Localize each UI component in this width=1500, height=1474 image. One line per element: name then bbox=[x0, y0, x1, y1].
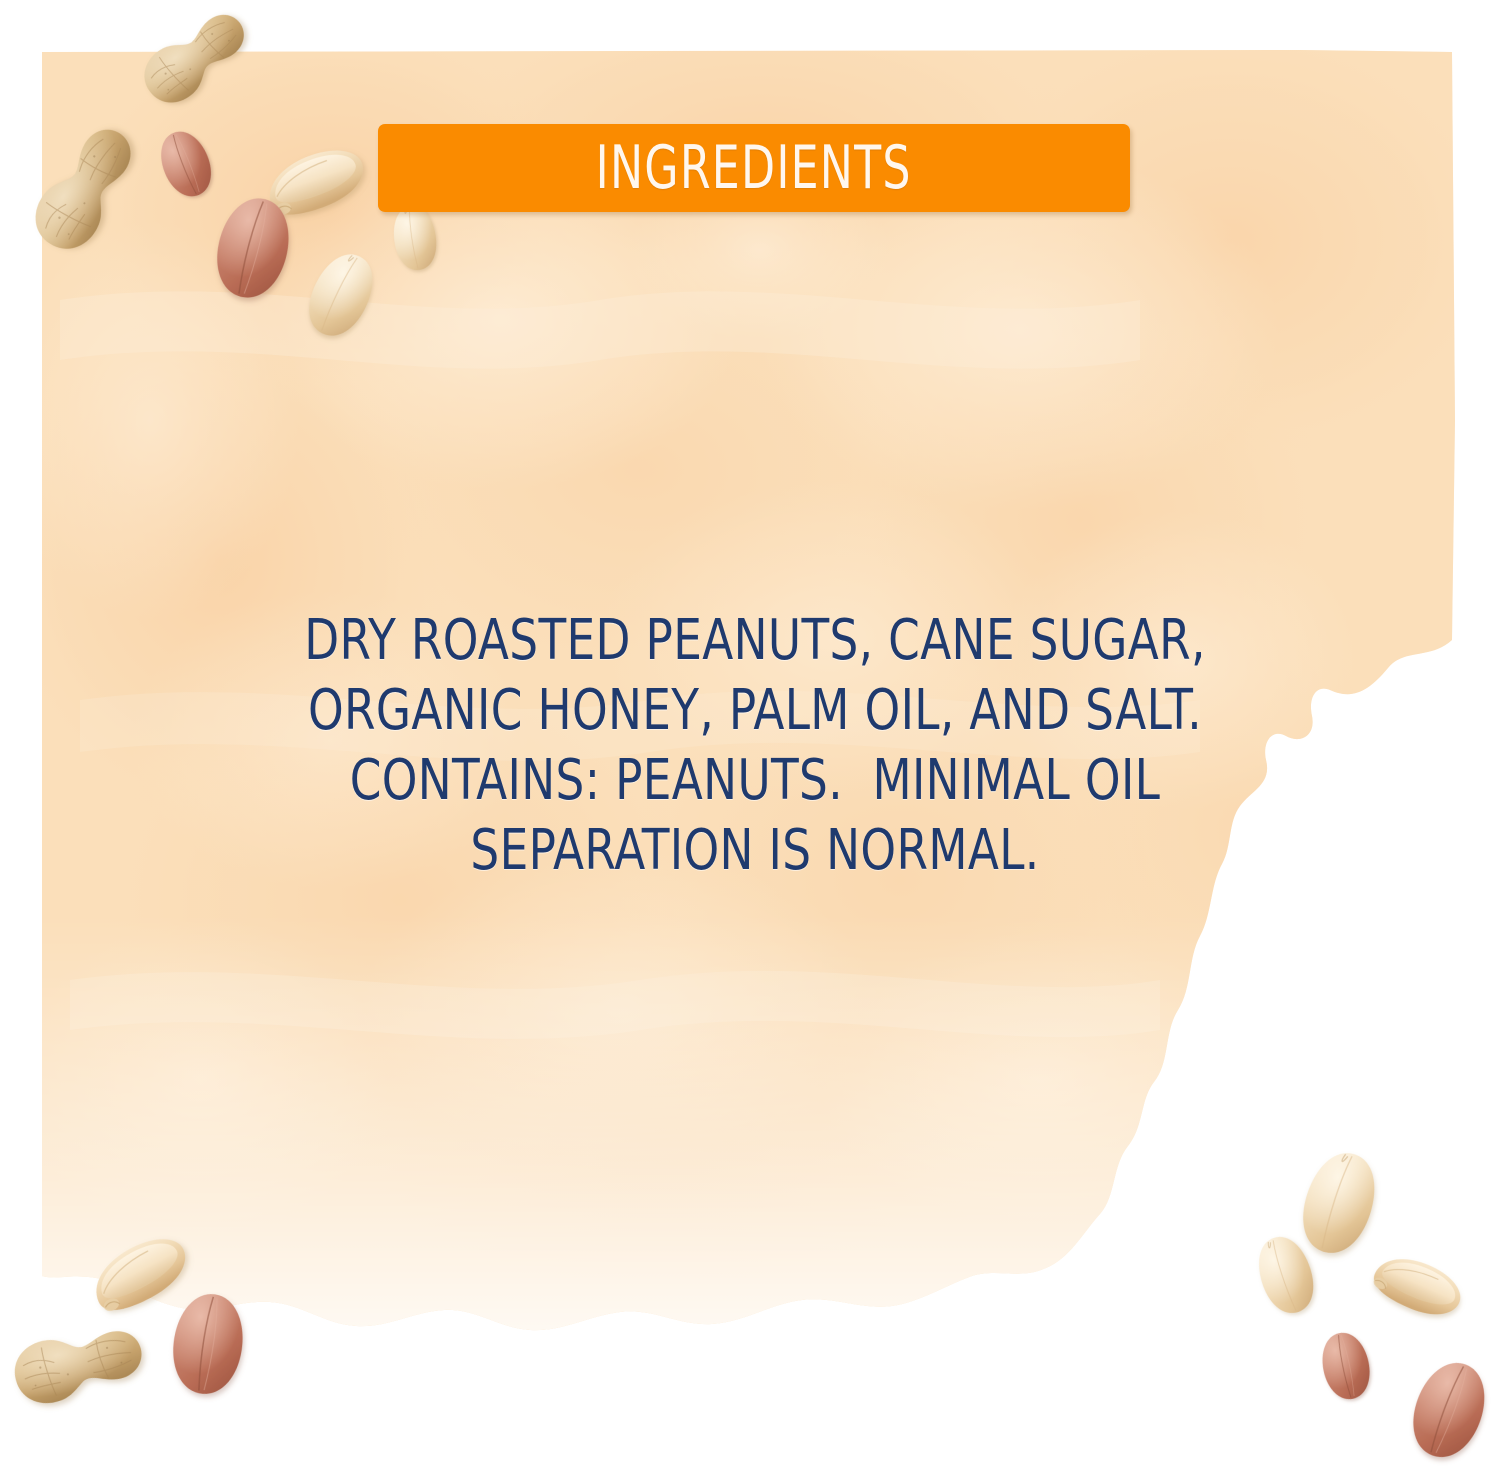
ingredients-line: SEPARATION IS NORMAL. bbox=[301, 816, 1210, 886]
ingredients-banner: INGREDIENTS bbox=[378, 124, 1130, 212]
peanut-kernel-blanched-icon bbox=[1287, 1139, 1391, 1266]
ingredients-line: DRY ROASTED PEANUTS, CANE SUGAR, bbox=[301, 606, 1210, 676]
peanut-kernel-blanched-icon bbox=[71, 1213, 206, 1332]
peanut-kernel-red-icon bbox=[1286, 1320, 1407, 1413]
peanut-shell-icon bbox=[107, 0, 278, 142]
ingredients-line: ORGANIC HONEY, PALM OIL, AND SALT. bbox=[301, 676, 1210, 746]
peanut-kernel-red-icon bbox=[1396, 1348, 1500, 1471]
ingredients-panel: INGREDIENTS DRY ROASTED PEANUTS, CANE SU… bbox=[0, 0, 1500, 1474]
peanut-kernel-blanched-icon bbox=[1228, 1221, 1345, 1329]
peanut-kernel-red-icon bbox=[202, 186, 304, 310]
peanut-kernel-blanched-icon bbox=[1349, 1215, 1486, 1354]
peanut-kernel-blanched-icon bbox=[284, 237, 397, 354]
peanut-kernel-red-icon bbox=[132, 114, 241, 214]
peanut-kernel-blanched-icon bbox=[250, 128, 379, 232]
peanut-shell-icon bbox=[0, 90, 180, 289]
peanut-kernel-red-icon bbox=[163, 1283, 254, 1404]
banner-title: INGREDIENTS bbox=[596, 138, 912, 198]
ingredients-text-block: DRY ROASTED PEANUTS, CANE SUGAR, ORGANIC… bbox=[250, 606, 1260, 886]
ingredients-line: CONTAINS: PEANUTS. MINIMAL OIL bbox=[301, 746, 1210, 816]
peanut-shell-icon bbox=[0, 1300, 159, 1429]
